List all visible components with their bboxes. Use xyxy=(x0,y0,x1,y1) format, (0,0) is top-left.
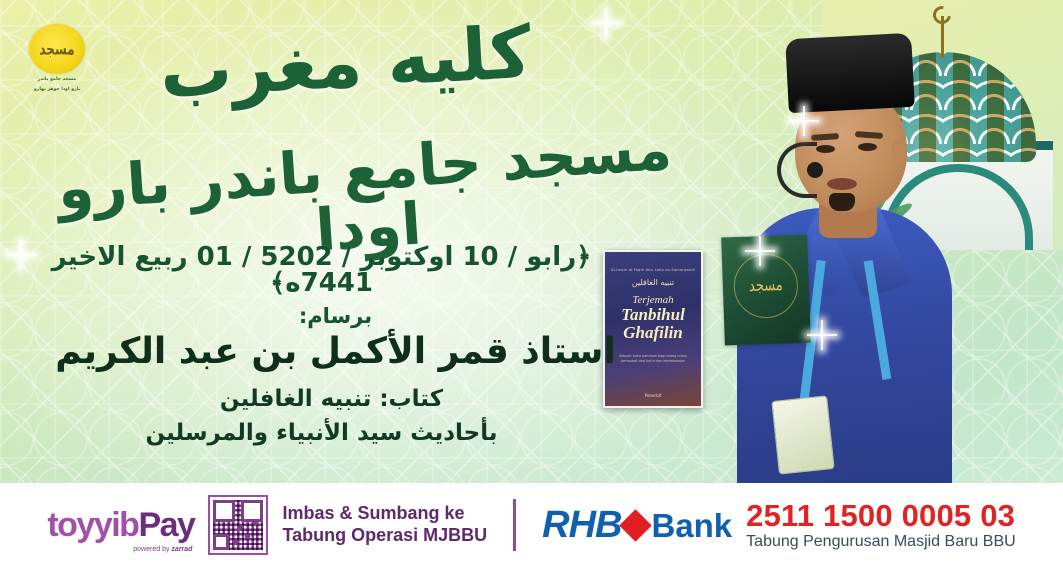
toyyibpay-powered-by: powered by zarrad xyxy=(133,546,192,553)
rhb-logo[interactable]: RHB Bank xyxy=(542,506,732,544)
speaker-ear xyxy=(891,140,906,165)
donate-text: Imbas & Sumbang ke Tabung Operasi MJBBU xyxy=(282,503,487,547)
sponsor-footer: toyyibPay powered by zarrad Imbas & Sumb… xyxy=(0,483,1063,567)
rhb-logo-word: Bank xyxy=(651,509,732,542)
qr-code-icon[interactable] xyxy=(208,495,268,555)
speaker-label: برسام: xyxy=(0,306,671,327)
account-number: 2511 1500 0005 03 xyxy=(746,499,1016,533)
account-label: Tabung Pengurusan Masjid Baru BBU xyxy=(746,533,1016,551)
donate-line1: Imbas & Sumbang ke xyxy=(282,503,487,525)
footer-divider xyxy=(513,499,516,551)
kitab-title: كتاب: تنبيه الغافلين xyxy=(0,386,663,412)
kitab-subtitle: بأحاديث سيد الأنبياء والمرسلين xyxy=(0,420,643,446)
event-poster: مسجد مسجد جامع باندر بارو اودا جوهر بهار… xyxy=(0,0,1063,567)
toyyibpay-name-part2: Pay xyxy=(138,506,194,544)
speaker-eye-left xyxy=(816,145,835,153)
calligraphy-plaque: مسجد xyxy=(721,235,811,346)
speaker-mouth xyxy=(827,178,857,190)
plaque-medallion-icon: مسجد xyxy=(733,253,799,319)
event-date: ﴿رابو / 01 اوكتوبر / 2025 / 10 ربيع الاخ… xyxy=(0,244,643,296)
powered-brand: zarrad xyxy=(171,546,192,553)
toyyibpay-block[interactable]: toyyibPay powered by zarrad Imbas & Sumb… xyxy=(47,495,487,555)
bank-account: 2511 1500 0005 03 Tabung Pengurusan Masj… xyxy=(746,499,1016,551)
plaque-calligraphy: مسجد xyxy=(749,277,783,295)
speaker-goatee xyxy=(829,193,855,211)
toyyibpay-name-part1: toyyib xyxy=(47,506,138,544)
powered-prefix: powered by xyxy=(133,546,171,553)
speaker-eye-right xyxy=(858,143,877,151)
toyyibpay-logo[interactable]: toyyibPay powered by zarrad xyxy=(47,508,194,542)
songkok-icon xyxy=(785,33,915,113)
speaker-name: استاذ قمر الأكمل بن عبد الكريم xyxy=(0,332,671,372)
rhb-bank-block[interactable]: RHB Bank 2511 1500 0005 03 Tabung Pengur… xyxy=(542,499,1016,551)
name-badge xyxy=(771,395,834,474)
microphone-capsule-icon xyxy=(807,162,823,178)
donate-line2: Tabung Operasi MJBBU xyxy=(282,525,487,547)
rhb-logo-mark: RHB xyxy=(542,506,621,544)
rhb-diamond-icon xyxy=(620,509,653,542)
